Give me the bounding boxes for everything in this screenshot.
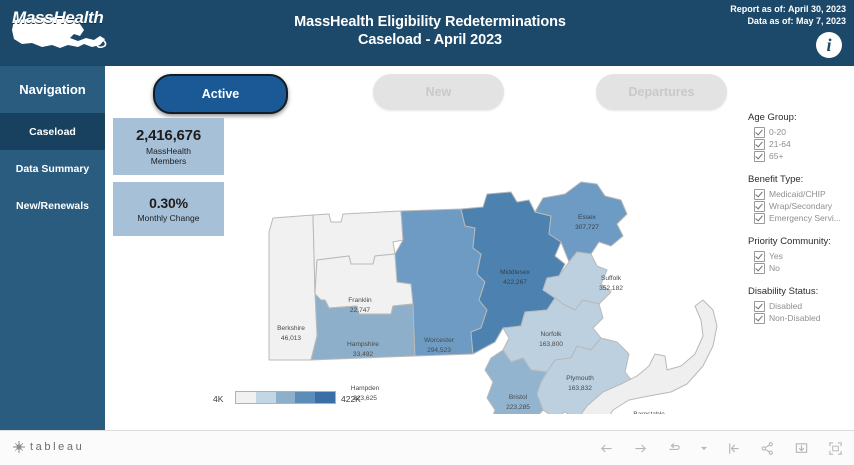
share-icon[interactable] (759, 440, 776, 457)
kpi-label-line2: Members (151, 156, 186, 166)
filter-option-65-plus[interactable]: 65+ (754, 150, 854, 162)
label-hampshire-name: Hampshire (347, 341, 379, 348)
label-norfolk-value: 163,800 (539, 341, 563, 348)
tab-departures[interactable]: Departures (596, 74, 727, 110)
label-worcester-name: Worcester (424, 337, 455, 344)
kpi-label: MassHealth Members (146, 146, 191, 166)
label-bristol-name: Bristol (509, 394, 528, 401)
checkbox-checked-icon[interactable] (754, 313, 765, 324)
filter-title: Priority Community: (748, 236, 854, 247)
kpi-label: Monthly Change (138, 213, 200, 223)
filter-option-emergency-services[interactable]: Emergency Servi... (754, 212, 854, 224)
kpi-value: 2,416,676 (136, 127, 201, 144)
masshealth-logo: MassHealth (8, 4, 112, 62)
page-title-line2: Caseload - April 2023 (180, 31, 680, 49)
filter-option-label: Wrap/Secondary (769, 201, 832, 211)
label-suffolk-value: 352,182 (599, 285, 623, 292)
label-bristol-value: 223,285 (506, 404, 530, 411)
filter-option-21-64[interactable]: 21-64 (754, 138, 854, 150)
sidebar-title: Navigation (0, 66, 105, 113)
filter-title: Benefit Type: (748, 174, 854, 185)
info-icon[interactable]: i (816, 32, 842, 58)
kpi-value: 0.30% (149, 195, 188, 211)
sidebar-item-caseload[interactable]: Caseload (0, 113, 105, 150)
massachusetts-county-map: Berkshire 46,013 Franklin 22,747 Hampshi… (225, 114, 735, 414)
filter-title: Disability Status: (748, 286, 854, 297)
label-berkshire-name: Berkshire (277, 325, 305, 332)
filter-option-label: 0-20 (769, 127, 786, 137)
tableau-logo-icon (12, 440, 26, 454)
checkbox-checked-icon[interactable] (754, 127, 765, 138)
data-as-of: Data as of: May 7, 2023 (730, 16, 846, 28)
checkbox-checked-icon[interactable] (754, 263, 765, 274)
filter-option-non-disabled[interactable]: Non-Disabled (754, 312, 854, 324)
sidebar-item-label: Data Summary (16, 163, 90, 175)
label-franklin-name: Franklin (348, 297, 372, 304)
sidebar-item-label: Caseload (29, 126, 76, 138)
dashboard-root: MassHealth MassHealth Eligibility Redete… (0, 0, 854, 464)
checkbox-checked-icon[interactable] (754, 213, 765, 224)
legend-swatch-1 (236, 392, 256, 403)
filter-option-priority-no[interactable]: No (754, 262, 854, 274)
checkbox-checked-icon[interactable] (754, 151, 765, 162)
checkbox-checked-icon[interactable] (754, 139, 765, 150)
tableau-wordmark: tableau (30, 441, 84, 453)
tableau-brand[interactable]: tableau (12, 440, 84, 454)
filter-option-label: Medicaid/CHIP (769, 189, 826, 199)
filter-option-label: No (769, 263, 780, 273)
download-icon[interactable] (793, 440, 810, 457)
label-franklin-value: 22,747 (350, 307, 371, 314)
filter-option-disabled[interactable]: Disabled (754, 300, 854, 312)
legend-gradient-bar (235, 391, 336, 404)
checkbox-checked-icon[interactable] (754, 251, 765, 262)
filter-option-label: Emergency Servi... (769, 213, 841, 223)
filter-group-benefit-type: Benefit Type: Medicaid/CHIP Wrap/Seconda… (748, 174, 854, 224)
view-tabs: Active New Departures (105, 69, 745, 113)
tab-label: Active (202, 87, 240, 101)
page-title-line1: MassHealth Eligibility Redeterminations (294, 14, 566, 30)
label-norfolk-name: Norfolk (541, 331, 563, 338)
tab-active[interactable]: Active (153, 74, 288, 114)
filter-option-priority-yes[interactable]: Yes (754, 250, 854, 262)
navigation-sidebar: Navigation Caseload Data Summary New/Ren… (0, 66, 105, 430)
sidebar-item-data-summary[interactable]: Data Summary (0, 150, 105, 187)
filter-option-label: 21-64 (769, 139, 791, 149)
revert-dropdown-caret-icon[interactable] (700, 440, 708, 457)
filter-option-0-20[interactable]: 0-20 (754, 126, 854, 138)
tab-label: Departures (629, 85, 695, 99)
checkbox-checked-icon[interactable] (754, 201, 765, 212)
tab-label: New (426, 85, 452, 99)
forward-icon[interactable] (632, 440, 649, 457)
label-essex-value: 307,727 (575, 224, 599, 231)
legend-swatch-5 (315, 392, 335, 403)
legend-max-label: 422K (341, 394, 361, 404)
tab-new[interactable]: New (373, 74, 504, 110)
main-content: Active New Departures 2,416,676 MassHeal… (105, 66, 854, 430)
checkbox-checked-icon[interactable] (754, 189, 765, 200)
checkbox-checked-icon[interactable] (754, 301, 765, 312)
as-of-block: Report as of: April 30, 2023 Data as of:… (730, 4, 846, 27)
filter-group-disability-status: Disability Status: Disabled Non-Disabled (748, 286, 854, 324)
label-hampshire-value: 33,492 (353, 351, 374, 358)
label-middlesex-value: 422,267 (503, 279, 527, 286)
kpi-card-members: 2,416,676 MassHealth Members (113, 118, 224, 175)
tableau-toolbar: tableau (0, 430, 854, 465)
fullscreen-icon[interactable] (827, 440, 844, 457)
filter-panel: Age Group: 0-20 21-64 65+ Benefit Type: (748, 112, 854, 336)
sidebar-item-label: New/Renewals (16, 200, 89, 212)
filter-group-priority-community: Priority Community: Yes No (748, 236, 854, 274)
filter-option-label: Disabled (769, 301, 802, 311)
label-worcester-value: 294,523 (427, 347, 451, 354)
label-berkshire-value: 46,013 (281, 335, 302, 342)
report-as-of: Report as of: April 30, 2023 (730, 4, 846, 16)
label-barnstable-name: Barnstable (633, 411, 665, 414)
back-icon[interactable] (598, 440, 615, 457)
kpi-label-line1: MassHealth (146, 146, 191, 156)
legend-swatch-4 (295, 392, 315, 403)
label-suffolk-name: Suffolk (601, 275, 622, 282)
kpi-card-monthly-change: 0.30% Monthly Change (113, 182, 224, 236)
filter-title: Age Group: (748, 112, 854, 123)
info-glyph: i (826, 35, 831, 56)
logo-wordmark: MassHealth (12, 8, 103, 28)
filter-option-label: Non-Disabled (769, 313, 821, 323)
legend-min-label: 4K (213, 394, 223, 404)
label-plymouth-name: Plymouth (566, 375, 594, 382)
filter-option-label: Yes (769, 251, 783, 261)
page-title: MassHealth Eligibility Redeterminations … (180, 13, 680, 49)
label-plymouth-value: 163,832 (568, 385, 592, 392)
revert-icon[interactable] (666, 440, 683, 457)
filter-option-medicaid-chip[interactable]: Medicaid/CHIP (754, 188, 854, 200)
filter-group-age-group: Age Group: 0-20 21-64 65+ (748, 112, 854, 162)
legend-swatch-3 (276, 392, 296, 403)
reset-icon[interactable] (725, 440, 742, 457)
filter-option-label: 65+ (769, 151, 783, 161)
label-middlesex-name: Middlesex (500, 269, 530, 276)
filter-option-wrap-secondary[interactable]: Wrap/Secondary (754, 200, 854, 212)
map-color-legend: 4K 422K (213, 391, 473, 409)
sidebar-item-new-renewals[interactable]: New/Renewals (0, 187, 105, 224)
label-essex-name: Essex (578, 214, 597, 221)
choropleth-map[interactable]: Berkshire 46,013 Franklin 22,747 Hampshi… (225, 114, 735, 414)
legend-swatch-2 (256, 392, 276, 403)
toolbar-actions (598, 431, 844, 465)
app-header: MassHealth MassHealth Eligibility Redete… (0, 0, 854, 66)
